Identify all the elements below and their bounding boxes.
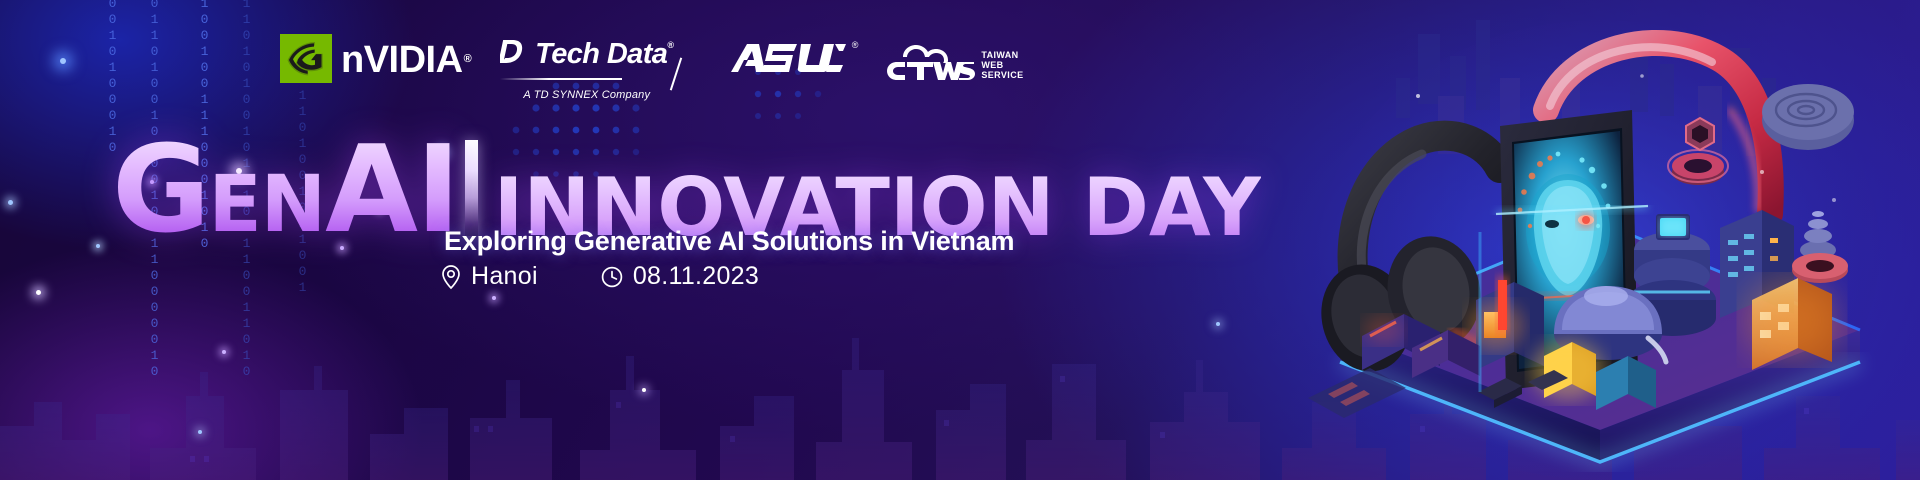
- registered-mark: ®: [852, 40, 859, 50]
- event-meta-row: Hanoi 08.11.2023: [440, 262, 759, 291]
- nvidia-wordmark: nVIDIA®: [341, 41, 470, 79]
- tech-data-monogram: [500, 36, 530, 72]
- nvidia-eye-icon: [280, 34, 332, 83]
- glow-dot: [96, 244, 100, 248]
- glow-dot: [36, 290, 41, 295]
- genai-innovation-day-banner: 0010100010 011010010100101110000010 1001…: [0, 0, 1920, 480]
- page-title-genai: GENAI: [112, 136, 459, 246]
- registered-mark: ®: [464, 53, 472, 65]
- tws-cloud-icon: [881, 38, 977, 84]
- glow-dot: [642, 388, 646, 392]
- sponsor-logo-row: nVIDIA® Tech Data® A TD SYNNEX Company: [280, 34, 1024, 101]
- tech-data-underline: [500, 75, 673, 84]
- glow-dot: [222, 350, 226, 354]
- title-divider: [465, 140, 478, 236]
- event-date: 08.11.2023: [600, 262, 759, 291]
- sponsor-logo-nvidia[interactable]: nVIDIA®: [280, 34, 470, 83]
- event-subtitle: Exploring Generative AI Solutions in Vie…: [444, 226, 1014, 257]
- tech-data-tagline: A TD SYNNEX Company: [500, 89, 673, 101]
- sponsor-logo-asus[interactable]: ®: [725, 34, 847, 83]
- tech-data-wordmark: Tech Data®: [535, 40, 673, 69]
- registered-mark: ®: [667, 40, 673, 50]
- clock-icon: [600, 265, 624, 289]
- map-pin-icon: [440, 264, 462, 290]
- event-location: Hanoi: [440, 262, 538, 291]
- glow-dot: [1216, 322, 1220, 326]
- glow-dot: [8, 200, 13, 205]
- ai-isometric-city-illustration: [1300, 0, 1900, 480]
- asus-wordmark: [725, 38, 847, 78]
- glow-dot: [492, 296, 496, 300]
- glow-dot: [60, 58, 66, 64]
- event-location-label: Hanoi: [471, 262, 538, 291]
- tws-tagline: TAIWAN WEB SERVICE: [981, 50, 1023, 84]
- sponsor-logo-tech-data[interactable]: Tech Data® A TD SYNNEX Company: [500, 34, 673, 101]
- event-date-label: 08.11.2023: [633, 262, 759, 291]
- sponsor-logo-tws[interactable]: TAIWAN WEB SERVICE: [881, 34, 1023, 84]
- glow-dot: [198, 430, 202, 434]
- binary-column: 0010100010: [106, 0, 119, 136]
